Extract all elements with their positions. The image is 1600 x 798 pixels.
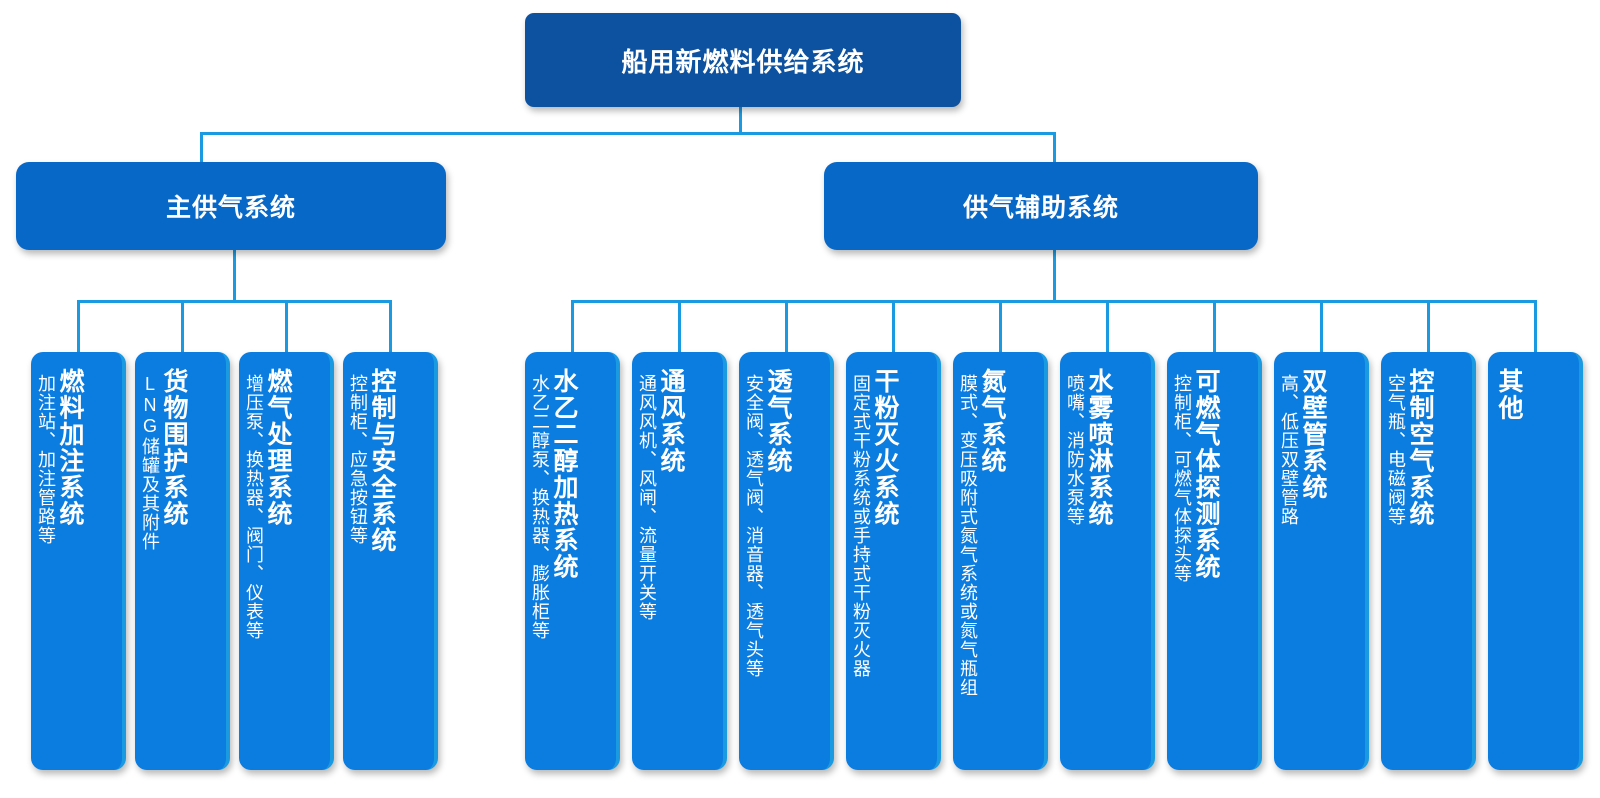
leaf-node-glycol-water-heating[interactable]: 水乙二醇加热系统 水乙二醇泵、换热器、膨胀柜等	[525, 352, 620, 770]
connector-main-supply-stem	[233, 250, 236, 302]
connector-root-bus	[200, 132, 1055, 135]
leaf-node-control-air[interactable]: 控制空气系统 空气瓶、电磁阀等	[1381, 352, 1476, 770]
connector-to-auxiliary	[1053, 132, 1056, 162]
branch-node-main-supply[interactable]: 主供气系统	[16, 162, 446, 250]
leaf-title: 双壁管系统	[1300, 368, 1325, 501]
connector-auxiliary-bus	[571, 300, 1534, 303]
connector-aux-drop-10	[1534, 300, 1537, 358]
branch-label-main-supply: 主供气系统	[166, 188, 296, 224]
leaf-subtitle: 固定式干粉系统或手持式干粉灭火器	[852, 368, 870, 678]
root-node-label: 船用新燃料供给系统	[621, 42, 864, 79]
connector-main-supply-bus	[77, 300, 392, 303]
leaf-node-fuel-bunkering[interactable]: 燃料加注系统 加注站、加注管路等	[31, 352, 126, 770]
connector-aux-drop-1	[571, 300, 574, 358]
leaf-subtitle: 控制柜、应急按钮等	[349, 368, 367, 545]
connector-root-stem	[739, 107, 742, 134]
connector-aux-drop-8	[1320, 300, 1323, 358]
connector-aux-drop-9	[1427, 300, 1430, 358]
leaf-title: 控制与安全系统	[369, 368, 394, 554]
leaf-subtitle: LNG储罐及其附件	[141, 368, 159, 551]
leaf-title: 货物围护系统	[161, 368, 186, 527]
connector-auxiliary-stem	[1053, 250, 1056, 302]
leaf-subtitle: 增压泵、换热器、阀门、仪表等	[245, 368, 263, 640]
leaf-title: 通风系统	[658, 368, 683, 474]
leaf-subtitle: 安全阀、透气阀、消音器、透气头等	[745, 368, 763, 678]
connector-aux-drop-3	[785, 300, 788, 358]
leaf-title: 燃料加注系统	[57, 368, 82, 527]
leaf-node-cargo-containment[interactable]: 货物围护系统 LNG储罐及其附件	[135, 352, 230, 770]
connector-aux-drop-5	[999, 300, 1002, 358]
leaf-subtitle: 高、低压双壁管路	[1280, 368, 1298, 526]
leaf-subtitle: 加注站、加注管路等	[37, 368, 55, 545]
leaf-node-double-wall-pipe[interactable]: 双壁管系统 高、低压双壁管路	[1274, 352, 1369, 770]
leaf-title: 透气系统	[765, 368, 790, 474]
leaf-subtitle: 水乙二醇泵、换热器、膨胀柜等	[531, 368, 549, 640]
connector-main-drop-2	[181, 300, 184, 358]
leaf-node-dry-powder-fire-extinguishing[interactable]: 干粉灭火系统 固定式干粉系统或手持式干粉灭火器	[846, 352, 941, 770]
connector-aux-drop-6	[1106, 300, 1109, 358]
leaf-subtitle: 膜式、变压吸附式氮气系统或氮气瓶组	[959, 368, 977, 697]
diagram-canvas: 船用新燃料供给系统 主供气系统 供气辅助系统 燃料加注系统 加注站、加注管路等 …	[0, 0, 1600, 798]
leaf-title: 干粉灭火系统	[872, 368, 897, 527]
connector-to-main-supply	[200, 132, 203, 162]
leaf-title: 燃气处理系统	[265, 368, 290, 527]
leaf-title: 水雾喷淋系统	[1086, 368, 1111, 527]
connector-aux-drop-2	[678, 300, 681, 358]
leaf-node-water-mist-spray[interactable]: 水雾喷淋系统 喷嘴、消防水泵等	[1060, 352, 1155, 770]
leaf-title: 控制空气系统	[1407, 368, 1432, 527]
leaf-title: 可燃气体探测系统	[1193, 368, 1218, 580]
leaf-title: 水乙二醇加热系统	[551, 368, 576, 580]
leaf-title: 其他	[1496, 368, 1521, 421]
root-node[interactable]: 船用新燃料供给系统	[525, 13, 961, 107]
leaf-node-ventilation[interactable]: 通风系统 通风风机、风闸、流量开关等	[632, 352, 727, 770]
leaf-node-combustible-gas-detection[interactable]: 可燃气体探测系统 控制柜、可燃气体探头等	[1167, 352, 1262, 770]
connector-aux-drop-7	[1213, 300, 1216, 358]
connector-main-drop-3	[285, 300, 288, 358]
leaf-node-gas-treatment[interactable]: 燃气处理系统 增压泵、换热器、阀门、仪表等	[239, 352, 334, 770]
branch-label-auxiliary: 供气辅助系统	[963, 188, 1119, 224]
branch-node-auxiliary[interactable]: 供气辅助系统	[824, 162, 1258, 250]
leaf-node-other[interactable]: 其他	[1488, 352, 1583, 770]
leaf-node-nitrogen[interactable]: 氮气系统 膜式、变压吸附式氮气系统或氮气瓶组	[953, 352, 1048, 770]
leaf-node-control-safety[interactable]: 控制与安全系统 控制柜、应急按钮等	[343, 352, 438, 770]
leaf-title: 氮气系统	[979, 368, 1004, 474]
connector-aux-drop-4	[892, 300, 895, 358]
leaf-subtitle: 空气瓶、电磁阀等	[1387, 368, 1405, 526]
leaf-subtitle: 喷嘴、消防水泵等	[1066, 368, 1084, 526]
leaf-subtitle: 通风风机、风闸、流量开关等	[638, 368, 656, 621]
connector-main-drop-1	[77, 300, 80, 358]
connector-main-drop-4	[389, 300, 392, 358]
leaf-subtitle: 控制柜、可燃气体探头等	[1173, 368, 1191, 583]
leaf-node-venting[interactable]: 透气系统 安全阀、透气阀、消音器、透气头等	[739, 352, 834, 770]
